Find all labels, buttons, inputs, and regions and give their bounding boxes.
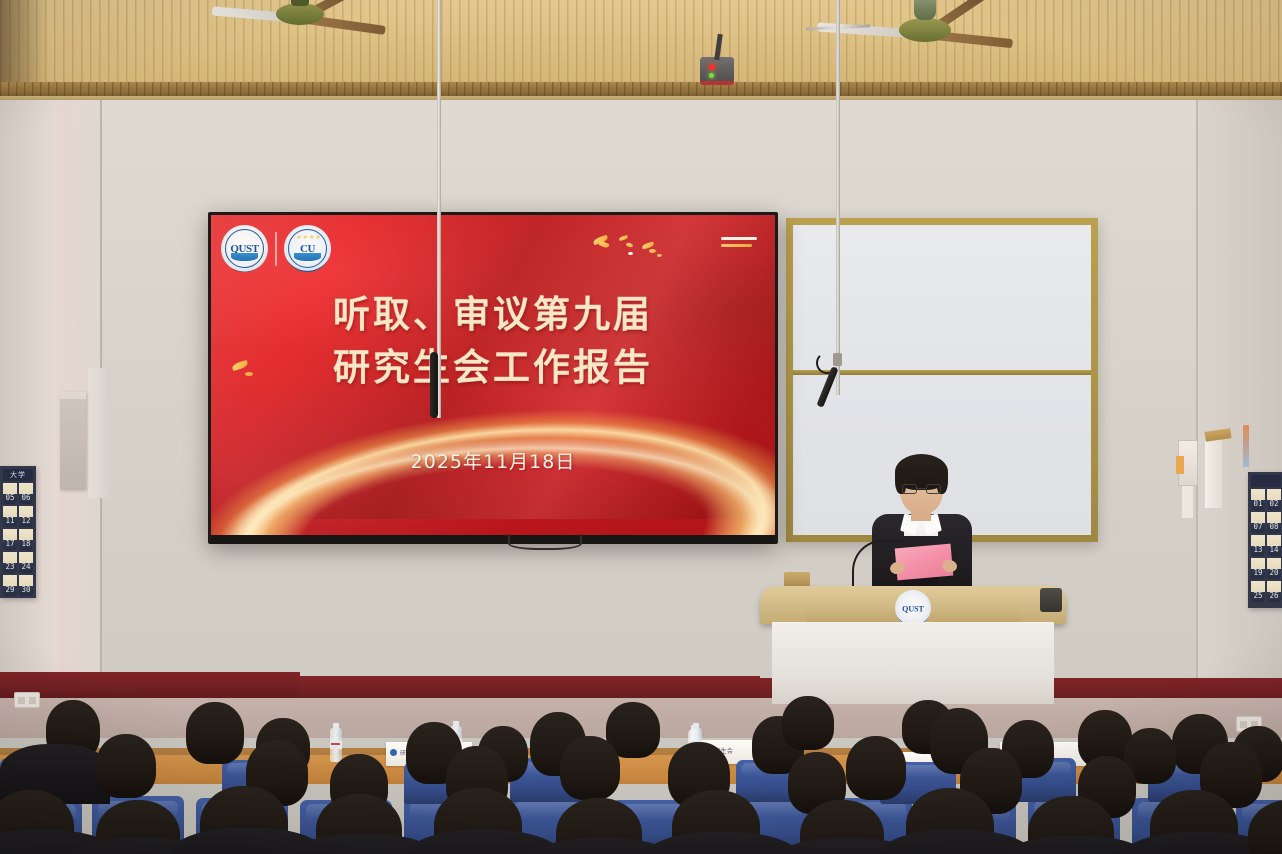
audience-head: [846, 736, 906, 800]
ceiling-sensor-base: [700, 81, 734, 85]
screen-logo-group: QUST ★★★★ CU: [221, 225, 331, 272]
organizer-pocket: 13: [1251, 535, 1265, 556]
fan-hub: [276, 3, 324, 25]
organizer-grid-left: 05 06 11 12 17 18 23 24 29 30: [3, 483, 33, 596]
photo-scene: 大学 05 06 11 12 17 18 23 24 29 30 01 02 0…: [0, 0, 1282, 854]
wall-left-column: [0, 100, 60, 700]
organizer-header-right: [1251, 475, 1281, 487]
wall-fixture-stem: [1182, 486, 1193, 518]
qust-emblem-icon: QUST: [221, 225, 268, 272]
emblem-wave: [294, 253, 320, 261]
podium-wing-left: [760, 594, 806, 624]
organizer-pocket: 06: [19, 483, 33, 504]
dove-shape: [628, 252, 633, 255]
organizer-pocket: 12: [19, 506, 33, 527]
dove-shape: [657, 254, 662, 257]
screen-cable: [508, 534, 582, 550]
dove-shape: [619, 235, 629, 241]
dove-shape: [598, 240, 609, 249]
screen-title-line-1: 听取、审议第九届: [211, 289, 775, 342]
emblem-stars: ★★★★: [296, 234, 319, 243]
organizer-pocket: 02: [1267, 489, 1281, 510]
ceiling-left-shadow: [0, 0, 48, 88]
wood-slat-ceiling: [0, 0, 1282, 88]
dove-shape: [649, 249, 656, 253]
organizer-pocket: 07: [1251, 512, 1265, 533]
podium-body: [772, 622, 1054, 704]
wall-socket-left[interactable]: [14, 692, 40, 708]
audience-head: [96, 734, 156, 798]
phone-pocket-organizer-left: 大学 05 06 11 12 17 18 23 24 29 30: [0, 466, 36, 598]
screen-surface: QUST ★★★★ CU: [211, 215, 775, 535]
phone-pocket-organizer-right: 01 02 07 08 13 14 19 20 25 26: [1248, 472, 1282, 608]
gold-dove-lower-icon-2: [245, 372, 253, 376]
organizer-pocket: 05: [3, 483, 17, 504]
organizer-pocket: 20: [1267, 558, 1281, 579]
wall-seam-right: [1196, 100, 1198, 690]
podium-qust-emblem-icon: QUST: [895, 590, 931, 626]
organizer-header-left: 大学: [3, 469, 33, 481]
wall-box-lip: [60, 392, 86, 399]
ceiling-sensor-led-red: [709, 64, 715, 70]
gold-doves-icon: [589, 233, 697, 269]
podium-emblem-initials: QUST: [902, 604, 924, 613]
organizer-pocket: 29: [3, 575, 17, 596]
organizer-pocket: 18: [19, 529, 33, 550]
glasses-icon: [902, 484, 941, 494]
decor-bar-gold: [721, 244, 752, 247]
screen-title-block: 听取、审议第九届 研究生会工作报告: [211, 289, 775, 394]
ceiling-fan-right: [925, 30, 926, 31]
organizer-pocket: 19: [1251, 558, 1265, 579]
podium-device: [1040, 588, 1062, 612]
organizer-pocket: 30: [19, 575, 33, 596]
logo-divider: [275, 232, 277, 266]
ceiling-fan-left: [300, 14, 301, 15]
ceiling-sensor-device: [700, 57, 734, 83]
organizer-pocket: 23: [3, 552, 17, 573]
decor-bar-white: [721, 237, 757, 240]
wall-dado-band-left: [0, 672, 300, 698]
screen-decor-bars: [721, 237, 757, 247]
organizer-pocket: 01: [1251, 489, 1265, 510]
organizer-pocket: 08: [1267, 512, 1281, 533]
led-display-screen: QUST ★★★★ CU: [208, 212, 778, 544]
fan-motor: [914, 0, 936, 20]
emblem-wave: [231, 253, 257, 261]
wall-mounted-box: [60, 392, 86, 490]
wall-recess-panel: [88, 368, 110, 498]
fan-motor: [291, 0, 309, 6]
audience-head: [782, 696, 834, 750]
ceiling-sensor-led-green: [709, 73, 714, 78]
dove-shape: [626, 242, 634, 248]
hanging-mic-pole-right: [836, 0, 840, 395]
cul-emblem-icon: ★★★★ CU: [284, 225, 331, 272]
organizer-pocket: 24: [19, 552, 33, 573]
wall-color-strip: [1243, 425, 1249, 467]
organizer-pocket: 14: [1267, 535, 1281, 556]
podium: QUST: [760, 586, 1066, 704]
screen-bottom-bezel: [211, 535, 775, 544]
water-bottle: [330, 728, 342, 762]
organizer-pocket: 26: [1267, 581, 1281, 602]
organizer-pocket: 25: [1251, 581, 1265, 602]
organizer-pocket: 17: [3, 529, 17, 550]
audience-head: [186, 702, 244, 764]
fan-hub: [899, 18, 951, 42]
wall-right-column: [1196, 100, 1282, 700]
wall-board-panel: [1205, 432, 1222, 508]
screen-title-line-2: 研究生会工作报告: [211, 342, 775, 395]
audience-head: [560, 736, 620, 800]
organizer-grid-right: 01 02 07 08 13 14 19 20 25 26: [1251, 489, 1281, 602]
screen-date-text: 2025年11月18日: [211, 447, 775, 474]
wall-fixture-tag: [1176, 456, 1184, 474]
organizer-pocket: 11: [3, 506, 17, 527]
hanging-mic-left: [430, 352, 438, 418]
